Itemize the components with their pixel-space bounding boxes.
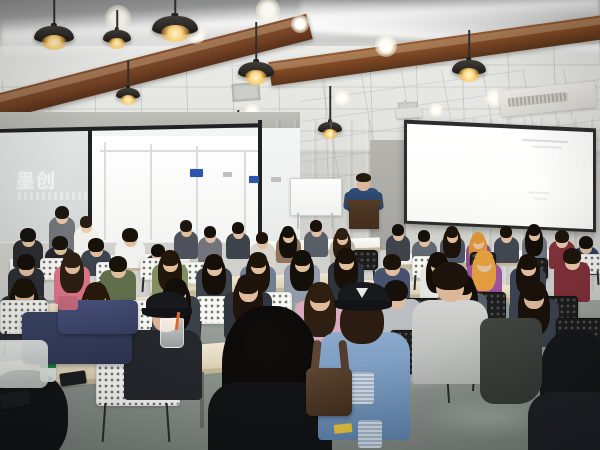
attendee-hair-back-9 — [204, 226, 217, 238]
wooden-podium — [349, 203, 379, 229]
attendee-hair-mid-4 — [161, 250, 178, 266]
corridor-door-2 — [150, 144, 152, 240]
attendee-hair-front-5 — [432, 262, 468, 290]
pendant-lamp-4 — [116, 60, 140, 103]
attendee-hair-row3-5 — [308, 282, 331, 303]
chair-leg-2 — [596, 271, 599, 285]
grey-sign-1 — [223, 172, 232, 177]
attendee-hair-back-22 — [579, 236, 593, 249]
plastic-cup — [160, 318, 184, 348]
glass-wall-decal-underline — [18, 192, 88, 200]
lamp-bulb-glow — [108, 38, 125, 50]
attendee-hair-back-10 — [232, 222, 245, 234]
attendee-hair-back-13 — [310, 220, 323, 232]
attendee-hair-mid-11 — [475, 250, 492, 266]
grey-sign-2 — [271, 177, 281, 182]
blue-sign-2 — [249, 176, 259, 183]
pendant-lamp-1 — [34, 0, 74, 47]
attendee-hair-back-3 — [80, 216, 93, 228]
lamp-cord — [127, 60, 129, 88]
attendee-hair-back-8 — [180, 220, 193, 232]
pendant-lamp-7 — [452, 30, 486, 79]
lamp-cord — [329, 86, 331, 122]
attendee-cap-brim-front-2 — [334, 300, 392, 311]
attendee-hair-back-19 — [500, 226, 513, 238]
attendee-hair-back-17 — [446, 226, 459, 238]
ceiling-projector — [396, 107, 422, 118]
blue-sign-1 — [190, 169, 203, 177]
attendee-hair-back-4 — [52, 236, 67, 250]
attendee-hair-mid-6 — [249, 252, 266, 268]
pink-container — [58, 296, 78, 310]
pendant-lamp-5 — [238, 22, 274, 82]
attendee-hair-back-1 — [20, 228, 35, 242]
attendee-cap-brim-front-6 — [142, 308, 192, 318]
attendee-hair-row3-1 — [13, 278, 35, 298]
lamp-bulb-glow — [42, 35, 67, 50]
downlight-4 — [291, 15, 309, 33]
corridor-door-1 — [104, 142, 106, 240]
attendee-hair-back-14 — [336, 228, 349, 240]
attendee-hair-back-20 — [528, 224, 541, 236]
attendee-hair-mid-1 — [17, 254, 34, 270]
attendee-hair-mid-12 — [519, 254, 536, 270]
attendee-head-front-1 — [244, 318, 288, 368]
lamp-bulb-glow — [161, 25, 190, 42]
ceiling-air-vent — [231, 82, 260, 102]
projection-screen-surface — [407, 124, 593, 229]
chair-leg-1 — [142, 277, 145, 292]
denim-patch-2 — [358, 420, 382, 448]
attendee-hair-mid-7 — [293, 250, 310, 266]
lamp-bulb-glow — [121, 95, 136, 105]
corridor-ceiling-line — [100, 150, 260, 152]
downlight-9 — [429, 103, 443, 117]
attendee-hair-row3-4 — [237, 274, 259, 294]
attendee-hair-back-6 — [122, 228, 137, 242]
attendee-hair-back-21 — [555, 230, 569, 243]
pendant-lamp-3 — [152, 0, 198, 39]
attendee-torso-front-4 — [528, 392, 600, 450]
attendee-torso-front-5 — [412, 300, 488, 384]
corridor-door-4 — [244, 150, 246, 238]
whiteboard — [290, 178, 342, 216]
yellow-floor-item — [334, 423, 353, 434]
attendee-hair-mid-9 — [383, 254, 400, 270]
attendee-hair-mid-8 — [337, 248, 354, 264]
attendee-hair-back-15 — [392, 224, 405, 236]
lamp-cord — [468, 30, 470, 60]
attendee-hair-back-12 — [282, 226, 295, 238]
lamp-cord — [255, 22, 257, 62]
seminar-room-photo: 墨创 — [0, 0, 600, 450]
lamp-bulb-glow — [458, 68, 479, 82]
attendee-hair-back-5 — [88, 238, 103, 252]
downlight-5 — [375, 35, 397, 57]
attendee-hair-mid-3 — [109, 256, 126, 272]
attendee-hair-back-16 — [418, 230, 431, 242]
leather-handbag — [306, 368, 352, 416]
draped-coat — [480, 318, 542, 404]
pendant-lamp-2 — [103, 10, 131, 47]
attendee-hair-back-18 — [472, 232, 485, 244]
plastic-bag — [0, 340, 48, 388]
attendee-hair-mid-5 — [205, 254, 222, 270]
attendee-hair-back-2 — [55, 206, 69, 219]
presenter-hair — [356, 173, 371, 182]
projection-screen — [404, 120, 596, 233]
whiteboard-leg-left — [297, 213, 299, 229]
corridor-door-3 — [196, 146, 198, 238]
attendee-hair-mid-2 — [63, 252, 80, 268]
attendee-hair-mid-13 — [563, 248, 580, 264]
attendee-hair-row3-8 — [522, 280, 545, 301]
attendee-hair-back-11 — [256, 232, 269, 244]
whiteboard-leg-right — [331, 213, 333, 229]
